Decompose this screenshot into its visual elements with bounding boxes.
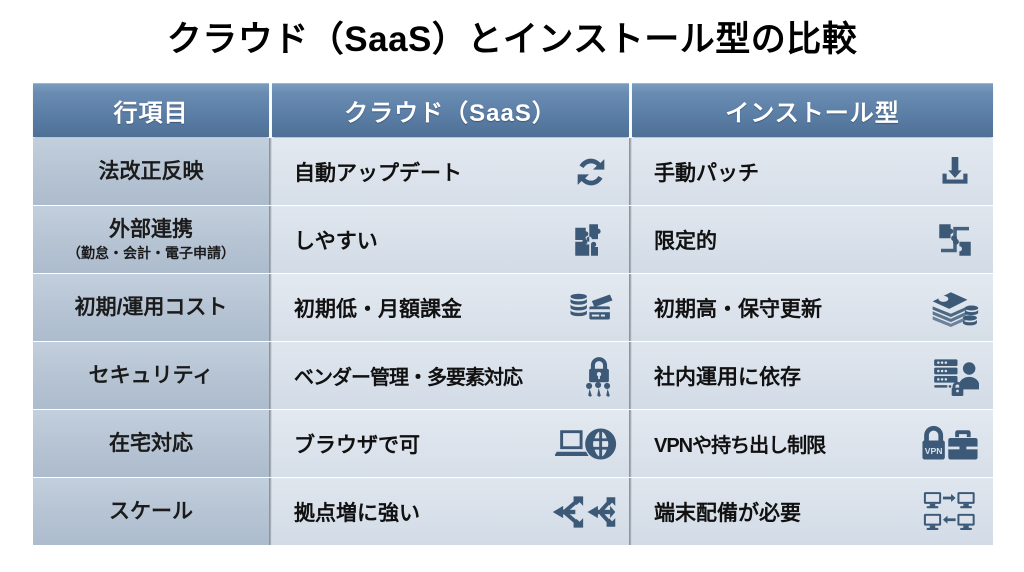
comparison-table: 行項目 クラウド（SaaS） インストール型 法改正反映 自動アップデート <box>33 83 992 545</box>
row-item-sublabel: （勤怠・会計・電子申請） <box>67 244 235 263</box>
column-header-cloud-saas-label: クラウド（SaaS） <box>344 93 557 128</box>
cloud-cell: 初期低・月額課金 <box>272 274 629 341</box>
page-title: クラウド（SaaS）とインストール型の比較 <box>0 14 1024 66</box>
row-item-label: 法改正反映 <box>99 159 204 185</box>
table-row: スケール 拠点増に強い <box>33 478 992 545</box>
padlock-keys-icon <box>579 347 619 405</box>
installed-cell: 社内運用に依存 <box>632 342 993 409</box>
cloud-cell: ブラウザで可 <box>272 410 629 477</box>
row-item-cell: セキュリティ <box>33 342 269 409</box>
table-row: セキュリティ ベンダー管理・多要素対応 <box>33 342 992 409</box>
column-header-installed-label: インストール型 <box>725 93 900 128</box>
cloud-cell: ベンダー管理・多要素対応 <box>272 342 629 409</box>
download-tray-icon <box>927 143 983 201</box>
row-item-cell: 法改正反映 <box>33 138 269 205</box>
table-header-row: 行項目 クラウド（SaaS） インストール型 <box>33 83 992 137</box>
cloud-value-label: 初期低・月額課金 <box>294 293 462 323</box>
row-item-cell: 外部連携 （勤怠・会計・電子申請） <box>33 206 269 273</box>
table-row: 初期/運用コスト 初期低・月額課金 <box>33 274 992 341</box>
branching-arrows-icon <box>549 483 619 541</box>
column-header-row-item-label: 行項目 <box>114 93 189 128</box>
row-item-label: セキュリティ <box>89 363 214 389</box>
installed-value-label: 初期高・保守更新 <box>654 293 822 323</box>
multi-monitor-arrows-icon <box>921 483 983 541</box>
cloud-value-label: しやすい <box>294 225 378 255</box>
coins-credit-card-icon <box>563 279 619 337</box>
cash-stack-coins-icon <box>927 279 983 337</box>
installed-value-label: 端末配備が必要 <box>654 497 801 527</box>
laptop-globe-icon <box>553 415 619 473</box>
table-row: 法改正反映 自動アップデート 手動パッチ <box>33 138 992 205</box>
cloud-value-label: ベンダー管理・多要素対応 <box>294 361 522 390</box>
server-user-lock-icon <box>927 347 983 405</box>
cloud-cell: しやすい <box>272 206 629 273</box>
installed-cell: 端末配備が必要 <box>632 478 993 545</box>
installed-value-label: 手動パッチ <box>654 157 759 187</box>
installed-cell: 初期高・保守更新 <box>632 274 993 341</box>
column-header-installed[interactable]: インストール型 <box>632 83 993 137</box>
comparison-slide: クラウド（SaaS）とインストール型の比較 行項目 クラウド（SaaS） インス… <box>0 0 1024 572</box>
installed-cell: 手動パッチ <box>632 138 993 205</box>
column-header-row-item[interactable]: 行項目 <box>33 83 269 137</box>
table-row: 在宅対応 ブラウザで可 <box>33 410 992 477</box>
row-item-label: 在宅対応 <box>109 431 193 457</box>
puzzle-pieces-separated-icon <box>927 211 983 269</box>
cloud-cell: 拠点増に強い <box>272 478 629 545</box>
row-item-cell: スケール <box>33 478 269 545</box>
cloud-value-label: 自動アップデート <box>294 157 462 187</box>
cloud-value-label: ブラウザで可 <box>294 429 420 459</box>
row-item-cell: 在宅対応 <box>33 410 269 477</box>
vpn-badge-text: VPN <box>925 445 943 455</box>
row-item-label: 初期/運用コスト <box>75 295 228 321</box>
column-header-cloud-saas[interactable]: クラウド（SaaS） <box>272 83 629 137</box>
installed-value-label: 限定的 <box>654 225 717 255</box>
cloud-value-label: 拠点増に強い <box>294 497 420 527</box>
installed-value-label: 社内運用に依存 <box>654 361 801 391</box>
sync-refresh-icon <box>563 143 619 201</box>
puzzle-pieces-connected-icon <box>563 211 619 269</box>
row-item-label: 外部連携 <box>109 217 193 243</box>
installed-value-label: VPNや持ち出し制限 <box>654 429 825 458</box>
table-row: 外部連携 （勤怠・会計・電子申請） しやすい 限定的 <box>33 206 992 273</box>
installed-cell: VPNや持ち出し制限 VPN <box>632 410 993 477</box>
row-item-label: スケール <box>109 499 193 525</box>
row-item-cell: 初期/運用コスト <box>33 274 269 341</box>
installed-cell: 限定的 <box>632 206 993 273</box>
cloud-cell: 自動アップデート <box>272 138 629 205</box>
vpn-lock-briefcase-icon: VPN <box>917 415 983 473</box>
